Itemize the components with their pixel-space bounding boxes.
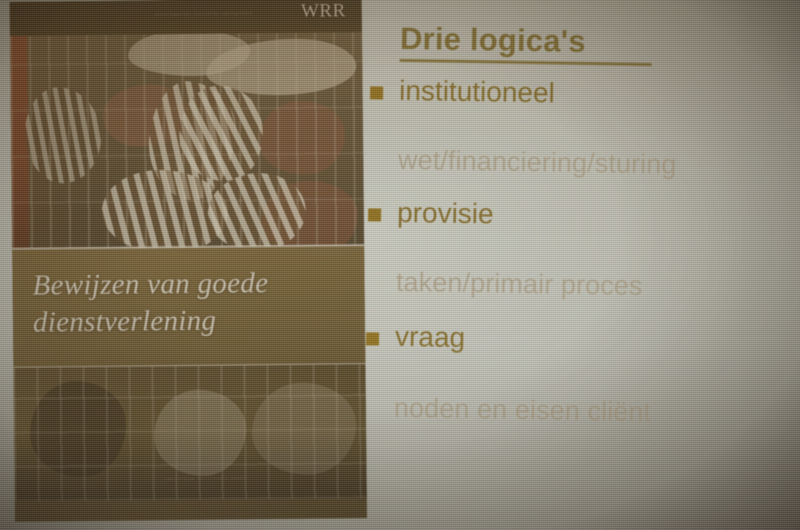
bullet-label: provisie — [397, 197, 494, 231]
bullet-square-icon — [370, 86, 383, 99]
bullet-subtext-vraag: noden en eisen cliënt — [370, 392, 790, 399]
bullet-item-vraag: vraag — [371, 320, 791, 327]
bullet-square-icon — [366, 332, 379, 345]
cover-photo-bottom: amsterdam university press — [13, 364, 366, 502]
bullet-sublabel: wet/financiering/sturing — [398, 145, 677, 181]
book-title: Bewijzen van goede dienstverlening — [32, 264, 347, 340]
cover-photo-top — [10, 32, 364, 250]
bed-rails-pattern — [10, 32, 364, 250]
bullet-sublabel: noden en eisen cliënt — [394, 393, 652, 428]
bullet-square-icon — [368, 208, 381, 221]
cover-top-band: WRR wetenschappelijke raad voor het rege… — [10, 0, 362, 36]
cover-title-band: Bewijzen van goede dienstverlening — [12, 246, 365, 368]
slide-title: Drie logica's — [400, 21, 586, 60]
slide-title-underline — [400, 59, 652, 66]
projected-slide-photo: WRR wetenschappelijke raad voor het rege… — [0, 0, 800, 530]
bullet-subtext-provisie: taken/primair proces — [372, 266, 792, 273]
bullet-label: vraag — [395, 321, 466, 354]
slide-content: Drie logica's institutioneel wet/financi… — [368, 0, 786, 507]
bullet-label: institutioneel — [399, 75, 555, 110]
bullet-subtext-institutioneel: wet/financiering/sturing — [374, 144, 794, 151]
bullet-sublabel: taken/primair proces — [396, 267, 643, 302]
book-title-line-2: dienstverlening — [33, 301, 347, 341]
book-title-line-1: Bewijzen van goede — [32, 264, 346, 304]
bullet-item-institutioneel: institutioneel — [375, 74, 795, 81]
projection-screen: WRR wetenschappelijke raad voor het rege… — [0, 0, 800, 530]
book-cover-image: WRR wetenschappelijke raad voor het rege… — [10, 0, 367, 522]
bullet-item-provisie: provisie — [373, 196, 793, 203]
